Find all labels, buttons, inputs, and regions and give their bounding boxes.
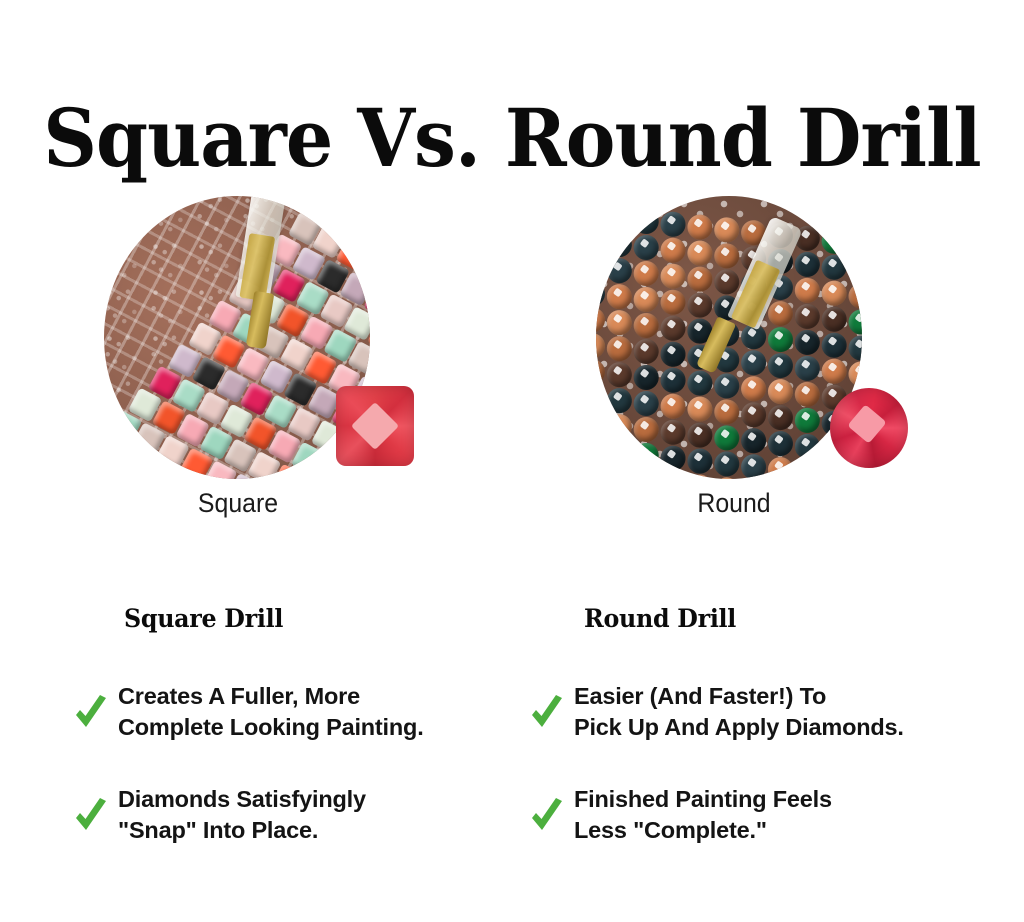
check-icon: [528, 793, 566, 837]
photo-caption-round: Round: [605, 488, 863, 519]
comparison-column-round: Round Drill Easier (And Faster!) To Pick…: [528, 604, 948, 886]
round-bead: [847, 360, 862, 387]
round-bead: [596, 202, 606, 229]
round-bead: [686, 239, 713, 266]
bullet-list-square: Creates A Fuller, More Complete Looking …: [72, 681, 492, 846]
round-bead: [659, 289, 686, 316]
round-bead: [820, 331, 847, 358]
round-bead: [686, 447, 713, 474]
round-bead: [632, 208, 659, 235]
square-gem-icon: [336, 386, 414, 466]
round-bead: [632, 364, 659, 391]
round-bead: [659, 471, 686, 479]
round-bead: [632, 234, 659, 261]
round-bead: [596, 332, 606, 359]
bullet-list-round: Easier (And Faster!) To Pick Up And Appl…: [528, 681, 948, 846]
round-bead: [740, 375, 767, 402]
round-bead: [794, 459, 821, 479]
round-bead: [740, 349, 767, 376]
round-bead: [596, 306, 606, 333]
round-bead: [847, 308, 862, 335]
photo-block-square: [100, 196, 430, 486]
round-bead: [596, 228, 606, 255]
round-bead: [659, 419, 686, 446]
round-bead: [820, 227, 847, 254]
comparison-column-square: Square Drill Creates A Fuller, More Comp…: [72, 604, 492, 886]
bullet-item: Creates A Fuller, More Complete Looking …: [72, 681, 492, 744]
round-bead: [713, 398, 740, 425]
round-bead: [596, 436, 606, 463]
round-bead: [847, 230, 862, 257]
round-bead: [606, 231, 633, 258]
round-bead: [794, 329, 821, 356]
round-bead: [686, 265, 713, 292]
round-bead: [632, 390, 659, 417]
check-icon: [72, 793, 110, 837]
round-gem-icon: [830, 388, 908, 468]
bullet-text: Diamonds Satisfyingly "Snap" Into Place.: [118, 784, 366, 847]
round-bead: [794, 303, 821, 330]
round-bead: [767, 378, 794, 405]
round-bead: [740, 427, 767, 454]
round-bead: [713, 450, 740, 477]
round-bead: [632, 416, 659, 443]
round-bead: [632, 260, 659, 287]
round-bead: [596, 384, 606, 411]
round-bead: [820, 461, 847, 479]
round-bead: [659, 367, 686, 394]
round-bead: [659, 237, 686, 264]
round-bead: [794, 381, 821, 408]
round-bead: [794, 355, 821, 382]
round-bead: [820, 279, 847, 306]
round-bead: [659, 445, 686, 472]
bullet-text: Creates A Fuller, More Complete Looking …: [118, 681, 424, 744]
round-bead: [820, 253, 847, 280]
round-bead: [606, 439, 633, 466]
round-bead: [606, 257, 633, 284]
round-bead: [767, 430, 794, 457]
round-bead: [632, 468, 659, 479]
round-bead: [794, 251, 821, 278]
round-bead: [659, 315, 686, 342]
bullet-text: Finished Painting Feels Less "Complete.": [574, 784, 832, 847]
page-title: Square Vs. Round Drill: [36, 98, 988, 178]
round-bead: [659, 263, 686, 290]
round-bead: [847, 334, 862, 361]
round-bead: [632, 286, 659, 313]
round-bead: [596, 410, 606, 437]
round-bead: [713, 424, 740, 451]
round-bead: [686, 369, 713, 396]
round-bead: [794, 433, 821, 460]
round-bead: [820, 305, 847, 332]
round-bead: [606, 387, 633, 414]
photo-caption-square: Square: [109, 488, 367, 519]
round-bead: [659, 211, 686, 238]
check-icon: [72, 690, 110, 734]
round-bead: [767, 300, 794, 327]
bullet-item: Finished Painting Feels Less "Complete.": [528, 784, 948, 847]
round-bead: [794, 407, 821, 434]
round-bead: [767, 404, 794, 431]
round-bead: [686, 291, 713, 318]
bullet-item: Diamonds Satisfyingly "Snap" Into Place.: [72, 784, 492, 847]
round-bead: [596, 358, 606, 385]
column-heading-square: Square Drill: [124, 604, 474, 633]
round-bead: [606, 309, 633, 336]
round-bead: [847, 282, 862, 309]
column-heading-round: Round Drill: [584, 604, 930, 633]
round-bead: [596, 462, 606, 479]
round-bead: [606, 283, 633, 310]
check-icon: [528, 690, 566, 734]
round-bead: [606, 335, 633, 362]
round-bead: [596, 280, 606, 307]
round-bead: [606, 413, 633, 440]
round-bead: [767, 456, 794, 479]
round-bead: [686, 395, 713, 422]
round-bead: [606, 465, 633, 479]
round-bead: [686, 213, 713, 240]
round-bead: [659, 341, 686, 368]
bullet-text: Easier (And Faster!) To Pick Up And Appl…: [574, 681, 904, 744]
round-bead: [713, 268, 740, 295]
round-bead: [820, 357, 847, 384]
round-bead: [740, 401, 767, 428]
round-bead: [596, 254, 606, 281]
round-bead: [632, 312, 659, 339]
bullet-item: Easier (And Faster!) To Pick Up And Appl…: [528, 681, 948, 744]
round-bead: [767, 326, 794, 353]
round-bead: [713, 216, 740, 243]
round-bead: [713, 242, 740, 269]
square-drill-photo: [104, 196, 370, 479]
round-drill-photo: [596, 196, 862, 479]
round-bead: [767, 352, 794, 379]
round-bead: [847, 256, 862, 283]
round-bead: [632, 442, 659, 469]
round-bead: [686, 421, 713, 448]
round-bead: [659, 393, 686, 420]
round-bead: [794, 277, 821, 304]
round-bead: [606, 205, 633, 232]
photo-block-round: [592, 196, 922, 486]
round-bead: [632, 338, 659, 365]
round-bead: [713, 372, 740, 399]
round-bead: [740, 453, 767, 479]
round-bead: [606, 361, 633, 388]
